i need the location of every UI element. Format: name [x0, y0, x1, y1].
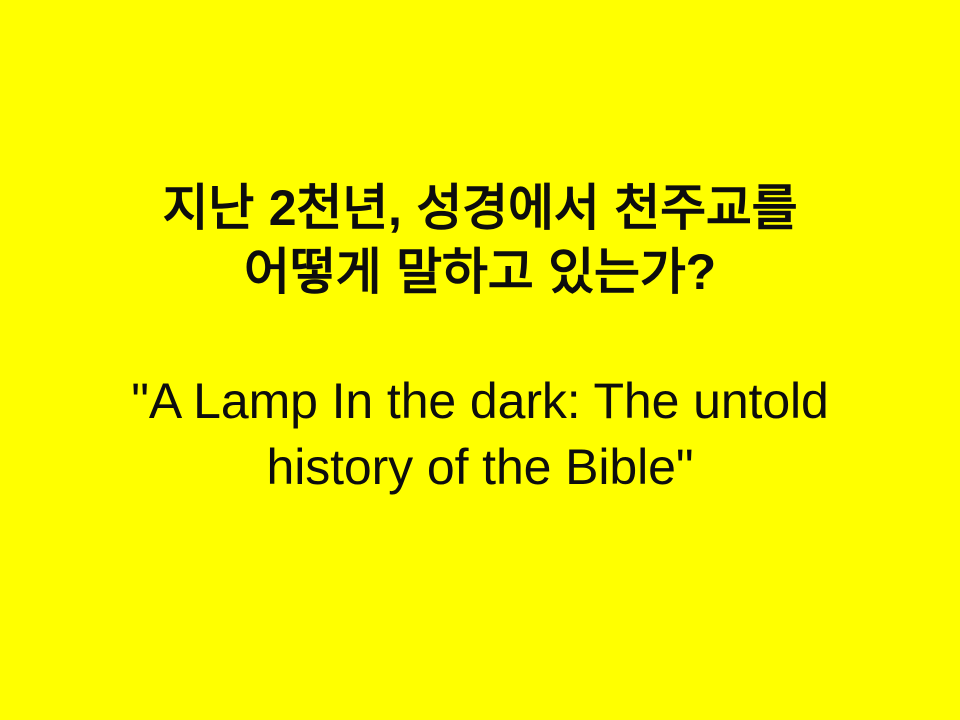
korean-title-line-2: 어떻게 말하고 있는가? [0, 240, 960, 304]
english-subtitle-line-1: "A Lamp In the dark: The untold [0, 368, 960, 434]
blank-line-spacer [0, 304, 960, 368]
slide-text-block: 지난 2천년, 성경에서 천주교를 어떻게 말하고 있는가? "A Lamp I… [0, 176, 960, 500]
slide-canvas: 지난 2천년, 성경에서 천주교를 어떻게 말하고 있는가? "A Lamp I… [0, 0, 960, 720]
english-subtitle-line-2: history of the Bible" [0, 434, 960, 500]
korean-title-line-1: 지난 2천년, 성경에서 천주교를 [0, 176, 960, 240]
